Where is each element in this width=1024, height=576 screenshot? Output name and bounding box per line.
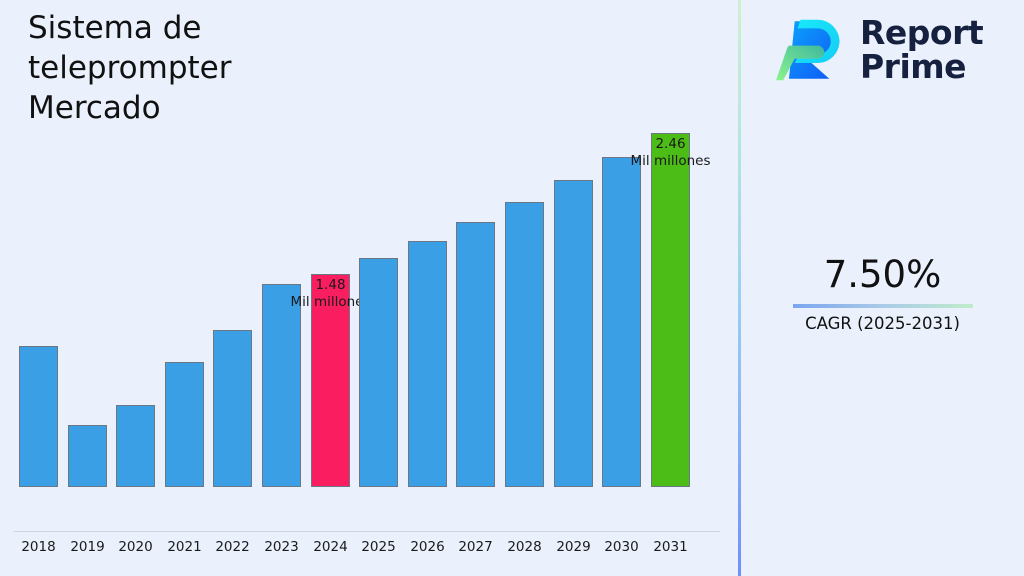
cagr-caption: CAGR (2025-2031)	[741, 313, 1024, 335]
bar-chart-plot-area: 1.48 Mil millones2.46 Mil millones	[0, 0, 739, 532]
brand-panel: Report Prime 7.50% CAGR (2025-2031)	[741, 0, 1024, 576]
bar-2020	[116, 405, 155, 487]
bar-2022	[213, 330, 252, 487]
bar-2019	[68, 425, 107, 487]
bar-2029	[554, 180, 593, 487]
bar-2018	[19, 346, 58, 487]
bar-value-label-2031: 2.46 Mil millones	[611, 136, 731, 170]
bar-2028	[505, 202, 544, 487]
brand-wordmark: Report Prime	[860, 16, 983, 84]
cagr-block: 7.50% CAGR (2025-2031)	[741, 252, 1024, 335]
x-axis-line	[14, 531, 720, 532]
bar-2027	[456, 222, 495, 487]
bar-2026	[408, 241, 447, 487]
bar-2023	[262, 284, 301, 487]
cagr-value: 7.50%	[741, 252, 1024, 298]
chart-panel: Sistema de teleprompter Mercado 1.48 Mil…	[0, 0, 739, 576]
bar-2025	[359, 258, 398, 487]
bar-2031	[651, 133, 690, 487]
brand-logo[interactable]: Report Prime	[776, 14, 983, 86]
report-prime-logo-icon	[776, 14, 848, 86]
bar-2030	[602, 157, 641, 487]
bar-2021	[165, 362, 204, 487]
cagr-divider-rule	[793, 304, 973, 308]
x-axis-tick-2031: 2031	[631, 539, 711, 555]
